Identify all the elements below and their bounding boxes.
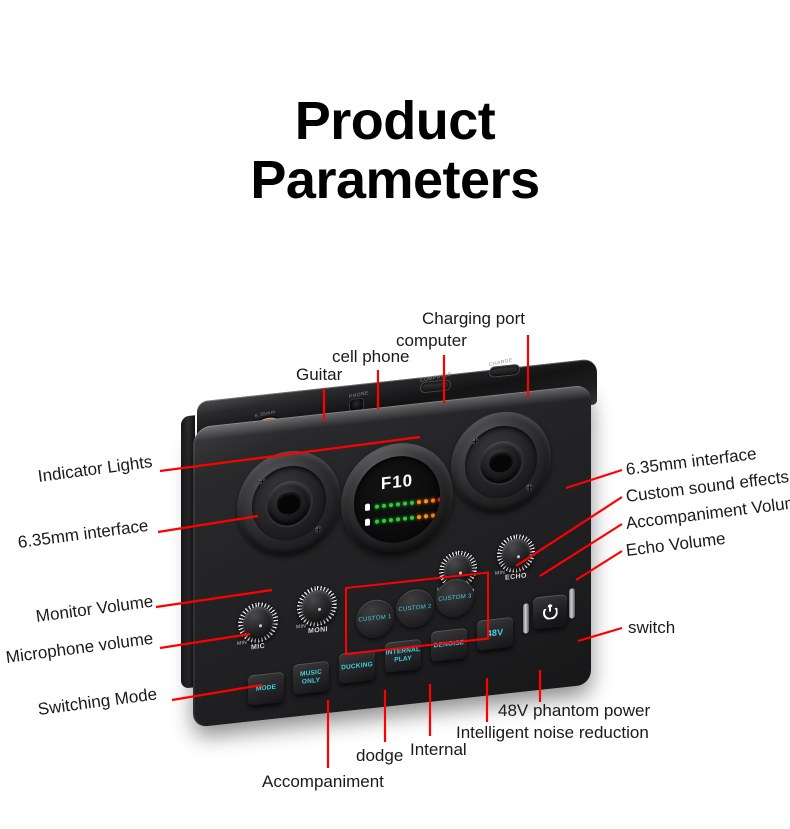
music-only-button-label: MUSICONLY <box>300 668 322 687</box>
monitor-knob[interactable] <box>297 584 337 628</box>
callout-dodge: dodge <box>356 746 403 766</box>
led-meter-row-2 <box>365 510 440 526</box>
led-dot <box>424 499 428 503</box>
mic-knob[interactable] <box>238 600 278 644</box>
monitor-knob-min: MIN <box>296 623 306 630</box>
product-illustration: 6.35mm PHONE COMPUTER CHARGE F10 <box>181 374 611 719</box>
display-screen: F10 <box>354 452 440 547</box>
page-title-line1: Product <box>0 92 790 151</box>
mic-knob-label: MIC <box>251 643 265 652</box>
page-title: Product Parameters <box>0 92 790 211</box>
callout-accompaniment: Accompaniment <box>262 772 384 792</box>
led-dot <box>403 501 407 505</box>
led-dot <box>375 519 379 523</box>
callout-echo-volume: Echo Volume <box>625 529 727 561</box>
device-front-face: F10 MIN MIC <box>193 384 591 727</box>
led-dot <box>431 498 435 502</box>
power-switch[interactable] <box>533 594 567 630</box>
monitor-knob-group[interactable]: MIN MONI <box>297 584 337 628</box>
led-dot <box>396 502 400 506</box>
echo-knob-label: ECHO <box>505 572 527 581</box>
power-icon <box>543 604 558 621</box>
callout-switching-mode: Switching Mode <box>37 684 159 719</box>
led-dot <box>389 517 393 521</box>
mode-button-label: MODE <box>256 684 276 694</box>
power-chrome-right <box>569 588 575 619</box>
mic-icon <box>365 503 370 511</box>
page-title-line2: Parameters <box>0 151 790 210</box>
speaker-icon <box>365 518 370 526</box>
display-bezel: F10 <box>341 437 453 561</box>
led-dot <box>417 514 421 518</box>
callout-6.35mm-left: 6.35mm interface <box>17 516 150 553</box>
echo-knob[interactable] <box>497 532 535 574</box>
callout-microphone-volume: Microphone volume <box>5 629 155 668</box>
phantom-power-button-label: 48V <box>487 627 504 640</box>
led-dot <box>382 503 386 507</box>
led-dot <box>382 518 386 522</box>
led-dot <box>438 512 440 516</box>
led-dot <box>389 502 393 506</box>
diagram-canvas: Product Parameters 6.35mm PHONE COMPUTER… <box>0 0 790 829</box>
power-chrome-left <box>523 603 529 634</box>
led-dot <box>431 513 435 517</box>
led-dot <box>396 517 400 521</box>
mode-button[interactable]: MODE <box>248 672 284 706</box>
callout-internal: Internal <box>410 740 467 760</box>
callout-charging-port: Charging port <box>422 309 525 329</box>
callout-phantom-power: 48V phantom power <box>498 701 650 721</box>
led-dot <box>410 515 414 519</box>
charging-port <box>490 365 519 377</box>
computer-port <box>421 380 450 392</box>
custom-buttons-highlight <box>345 571 489 655</box>
led-meter-row-1 <box>365 495 440 511</box>
callout-guitar: Guitar <box>296 365 342 385</box>
ducking-button-label: DUCKING <box>341 661 373 673</box>
echo-knob-group[interactable]: MIN ECHO <box>497 532 535 574</box>
mic-knob-group[interactable]: MIN MIC <box>238 600 278 644</box>
callout-monitor-volume: Monitor Volume <box>35 592 155 627</box>
mic-knob-min: MIN <box>237 640 247 647</box>
callout-noise-reduction: Intelligent noise reduction <box>456 723 649 743</box>
led-dot <box>375 504 379 508</box>
callout-computer: computer <box>396 331 467 351</box>
led-dot <box>410 500 414 504</box>
music-only-button[interactable]: MUSICONLY <box>293 661 329 695</box>
monitor-knob-label: MONI <box>308 626 328 635</box>
led-dot <box>403 516 407 520</box>
led-dot <box>424 514 428 518</box>
display-value: F10 <box>354 468 440 497</box>
callout-switch: switch <box>628 618 675 638</box>
echo-knob-min: MIN <box>495 570 505 577</box>
led-dot <box>417 499 421 503</box>
callout-indicator-lights: Indicator Lights <box>37 452 154 487</box>
led-dot <box>438 497 440 501</box>
